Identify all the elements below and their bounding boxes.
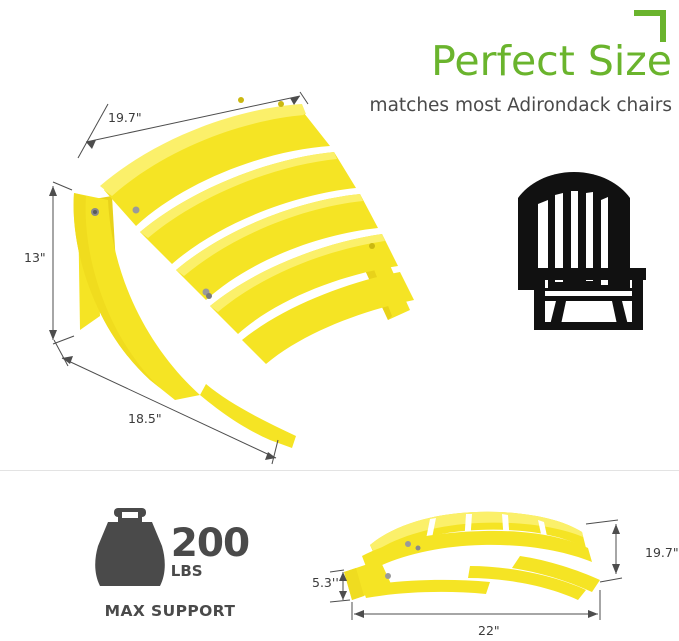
page-title: Perfect Size [322,38,672,84]
weight-row: 200 LBS [70,516,270,588]
dimension-lines-main [49,92,308,464]
page-subtitle: matches most Adirondack chairs [322,94,672,118]
dimension-label-folded-width: 19.7" [645,545,679,560]
product-infographic: Perfect Size matches most Adirondack cha… [0,0,679,641]
ottoman-main-view [74,97,414,448]
weight-text-stack: 200 LBS [171,525,249,579]
section-divider [0,470,679,471]
adirondack-chair-icon [518,172,646,330]
dimension-label-width-top: 19.7" [108,110,142,125]
dimension-label-height-left: 13" [24,250,46,265]
dimension-lines-folded [330,520,622,620]
headline-block: Perfect Size matches most Adirondack cha… [322,38,672,118]
dimension-label-folded-height: 5.3'' [312,575,339,590]
ottoman-slats [104,108,414,364]
weight-number: 200 [171,525,249,563]
ottoman-folded-view [344,512,600,600]
dimension-label-folded-length: 22" [478,623,500,638]
max-support-badge: 200 LBS MAX SUPPORT [70,516,270,620]
dimension-label-depth-bottom: 18.5" [128,411,162,426]
max-support-caption: MAX SUPPORT [70,602,270,620]
weight-unit: LBS [171,563,203,579]
